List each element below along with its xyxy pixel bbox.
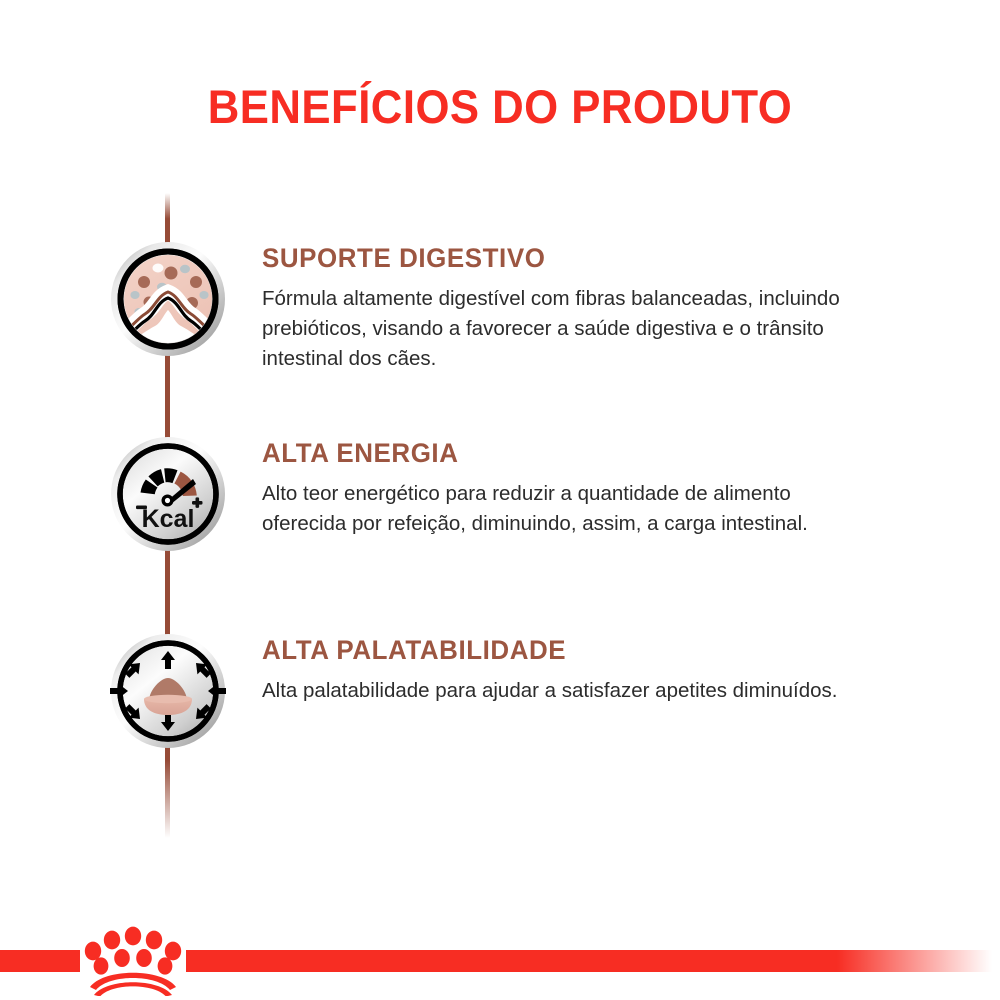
benefit-body: Alta palatabilidade para ajudar a satisf… [262,676,862,706]
footer-bar-right-segment [186,950,1000,972]
benefit-body: Fórmula altamente digestível com fibras … [262,284,862,374]
benefit-heading: SUPORTE DIGESTIVO [262,244,857,274]
benefit-heading: ALTA PALATABILIDADE [262,636,857,666]
benefit-text-block: ALTA ENERGIA Alto teor energético para r… [262,439,882,539]
benefit-text-block: ALTA PALATABILIDADE Alta palatabilidade … [262,636,882,706]
benefit-text-block: SUPORTE DIGESTIVO Fórmula altamente dige… [262,244,882,373]
benefit-body: Alto teor energético para reduzir a quan… [262,479,862,539]
gauge-kcal-label: Kcal [142,505,195,533]
benefit-item-high-energy: Kcal ALTA ENERGIA Alto teor energético p… [0,435,1000,595]
royal-canin-crown-logo [78,918,188,996]
benefit-heading: ALTA ENERGIA [262,439,857,469]
page-title: BENEFÍCIOS DO PRODUTO [35,82,965,131]
palatability-bowl-icon [109,632,227,750]
digestive-system-icon [109,240,227,358]
footer-bar-left-segment [0,950,80,972]
benefit-item-digestive-support: SUPORTE DIGESTIVO Fórmula altamente dige… [0,240,1000,400]
product-benefits-page: BENEFÍCIOS DO PRODUTO [0,0,1000,1000]
kcal-gauge-icon: Kcal [109,435,227,553]
benefit-item-high-palatability: ALTA PALATABILIDADE Alta palatabilidade … [0,632,1000,792]
